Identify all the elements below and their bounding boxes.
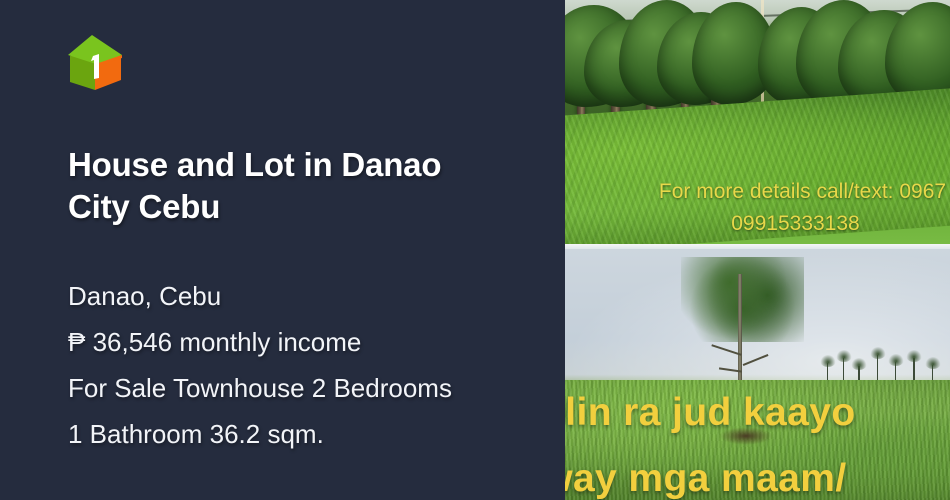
- title-line-2: City Cebu: [68, 186, 538, 228]
- listing-gallery: For more details call/text: 0967 0991533…: [565, 0, 950, 500]
- lone-tree-trunk: [738, 274, 741, 384]
- listing-price: ₱ 36,546 monthly income: [68, 319, 558, 365]
- page-title: House and Lot in Danao City Cebu: [68, 144, 538, 228]
- gallery-photo-bottom[interactable]: olin ra jud kaayo iway mga maam/: [565, 249, 950, 500]
- listing-location: Danao, Cebu: [68, 273, 558, 319]
- photo-top-caption-line-2: 09915333138: [565, 208, 950, 240]
- gallery-divider: [565, 244, 950, 249]
- photo-top-caption-line-1: For more details call/text: 0967: [565, 176, 950, 208]
- gallery-photo-top[interactable]: For more details call/text: 0967 0991533…: [565, 0, 950, 244]
- house-one-logo-icon[interactable]: [66, 34, 124, 94]
- photo-bottom-caption-line-1: olin ra jud kaayo: [565, 380, 950, 446]
- listing-info-panel: House and Lot in Danao City Cebu Danao, …: [0, 0, 565, 500]
- photo-bottom-caption: olin ra jud kaayo iway mga maam/: [565, 380, 950, 500]
- listing-details-line-2: 1 Bathroom 36.2 sqm.: [68, 411, 558, 457]
- listing-meta: Danao, Cebu ₱ 36,546 monthly income For …: [68, 273, 558, 457]
- photo-bottom-caption-line-2: iway mga maam/: [565, 446, 950, 500]
- title-line-1: House and Lot in Danao: [68, 144, 538, 186]
- listing-details-line-1: For Sale Townhouse 2 Bedrooms: [68, 365, 558, 411]
- photo-top-caption: For more details call/text: 0967 0991533…: [565, 176, 950, 240]
- listing-preview-card: House and Lot in Danao City Cebu Danao, …: [0, 0, 950, 500]
- lone-tree-canopy: [681, 257, 804, 342]
